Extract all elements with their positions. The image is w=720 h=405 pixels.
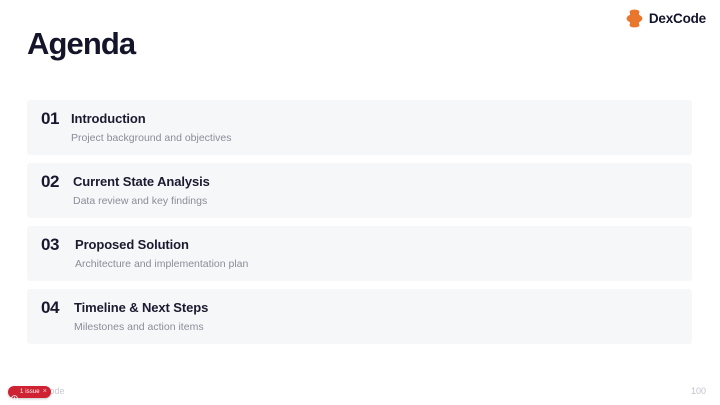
page-number: 100 <box>691 385 706 397</box>
close-icon[interactable]: × <box>42 388 47 396</box>
brand-name: DexCode <box>649 12 706 26</box>
agenda-item-subtitle: Milestones and action items <box>74 319 208 335</box>
agenda-item-number: 03 <box>41 235 75 255</box>
issue-badge[interactable]: 1 issue × <box>8 386 51 398</box>
agenda-item[interactable]: 02 Current State Analysis Data review an… <box>27 163 692 218</box>
agenda-item-subtitle: Architecture and implementation plan <box>75 256 248 272</box>
agenda-item-text: Introduction Project background and obje… <box>71 109 232 146</box>
agenda-item-text: Current State Analysis Data review and k… <box>73 172 210 209</box>
agenda-item-title: Introduction <box>71 110 232 127</box>
agenda-item-subtitle: Data review and key findings <box>73 193 210 209</box>
agenda-item-number: 02 <box>41 172 73 192</box>
brand-logo: DexCode <box>626 9 706 28</box>
page-title: Agenda <box>27 26 135 62</box>
warning-circle-icon <box>11 389 18 396</box>
agenda-item-title: Current State Analysis <box>73 173 210 190</box>
agenda-item-text: Timeline & Next Steps Milestones and act… <box>74 298 208 335</box>
agenda-item-text: Proposed Solution Architecture and imple… <box>75 235 248 272</box>
agenda-list: 01 Introduction Project background and o… <box>27 100 692 344</box>
agenda-item-title: Timeline & Next Steps <box>74 299 208 316</box>
agenda-item-subtitle: Project background and objectives <box>71 130 232 146</box>
slide-canvas: DexCode Agenda 01 Introduction Project b… <box>0 0 720 405</box>
issue-badge-label: 1 issue <box>20 388 40 396</box>
agenda-item[interactable]: 04 Timeline & Next Steps Milestones and … <box>27 289 692 344</box>
agenda-item[interactable]: 03 Proposed Solution Architecture and im… <box>27 226 692 281</box>
agenda-item-number: 01 <box>41 109 71 129</box>
agenda-item-title: Proposed Solution <box>75 236 248 253</box>
agenda-item[interactable]: 01 Introduction Project background and o… <box>27 100 692 155</box>
dexcode-blob-icon <box>626 9 643 28</box>
agenda-item-number: 04 <box>41 298 74 318</box>
